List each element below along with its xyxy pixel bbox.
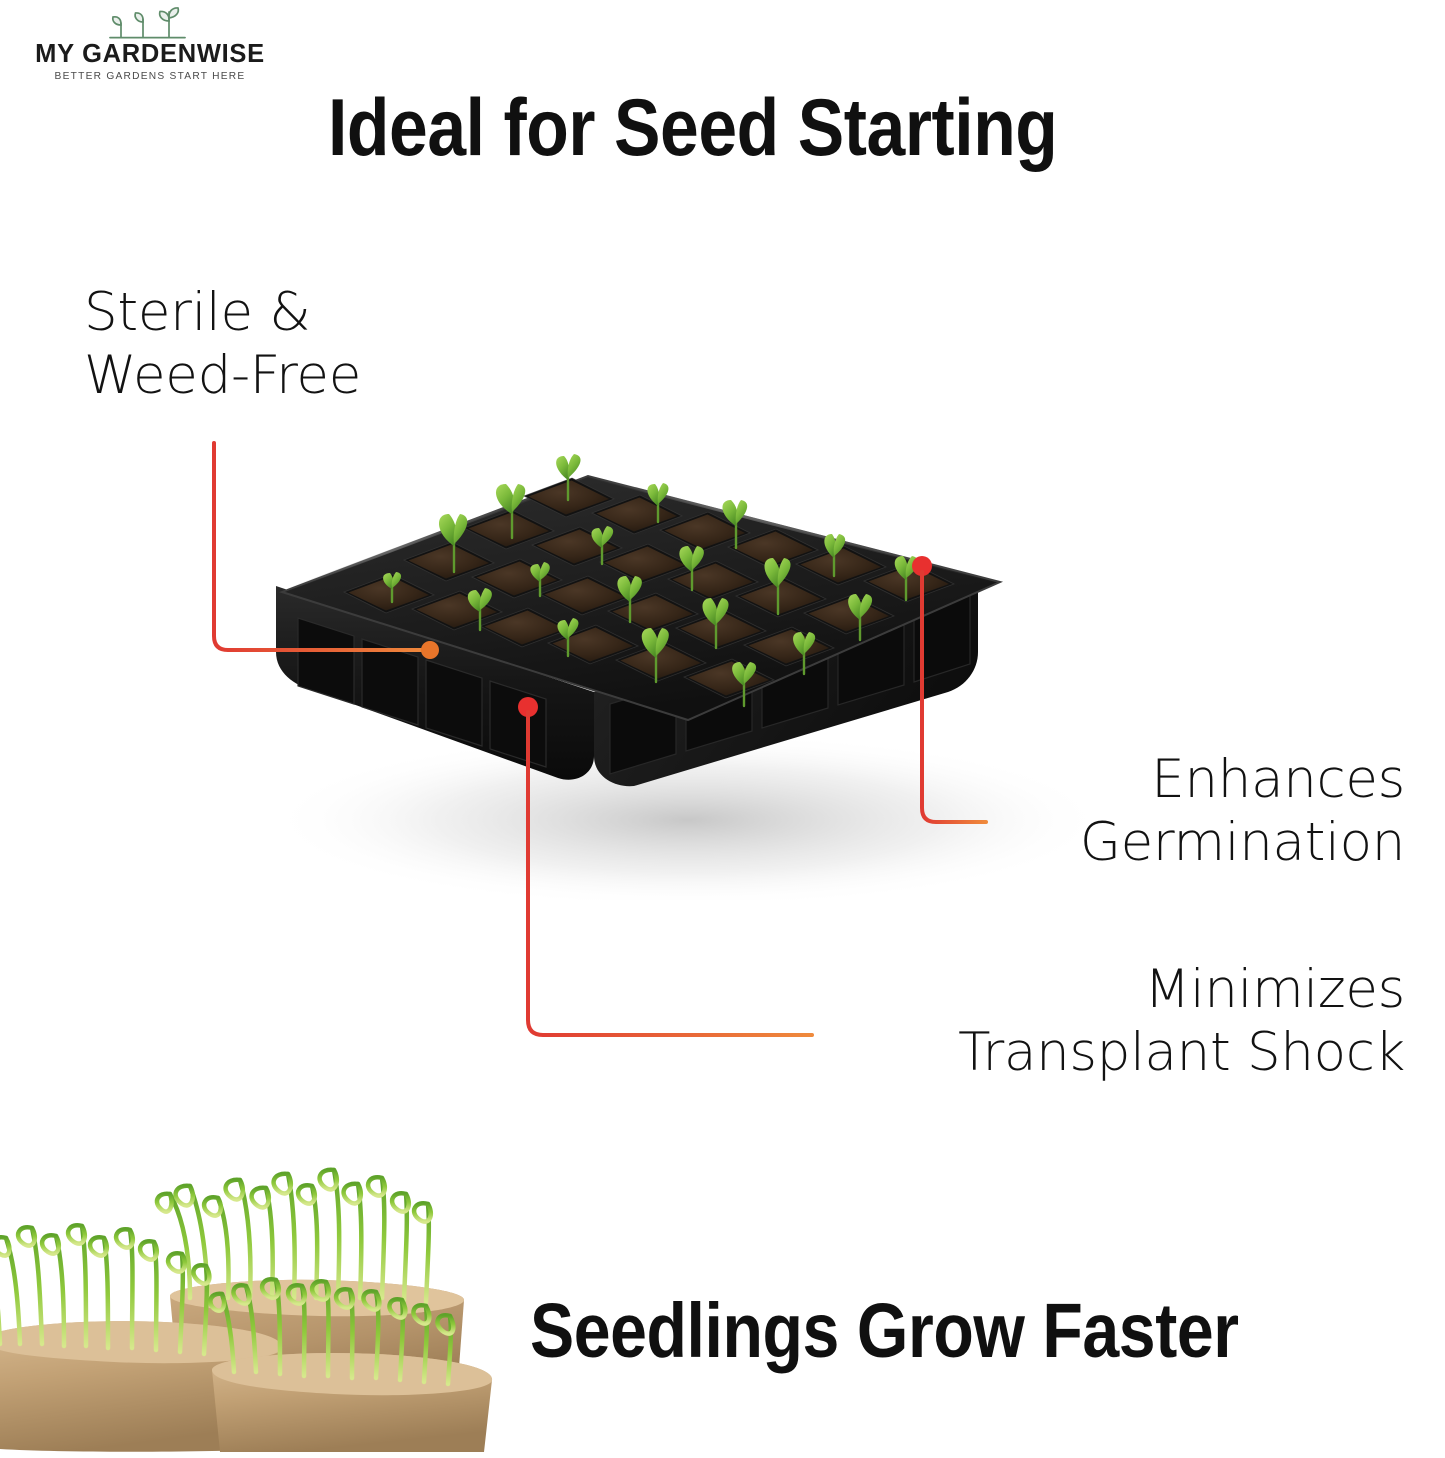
callout-shock-line1: Minimizes (958, 958, 1405, 1021)
callout-label-sterile: Sterile & Weed-Free (84, 281, 361, 407)
page-title-bottom: Seedlings Grow Faster (530, 1287, 1239, 1376)
callout-label-shock: Minimizes Transplant Shock (958, 958, 1405, 1084)
callout-label-germination: Enhances Germination (1080, 748, 1405, 874)
callout-dot-sterile (421, 641, 439, 659)
callout-germination-line1: Enhances (1080, 748, 1405, 811)
callout-sterile-line2: Weed-Free (84, 344, 361, 407)
callout-germination-line2: Germination (1080, 811, 1405, 874)
callout-sterile-line1: Sterile & (84, 281, 361, 344)
sprouts-in-pots-image (0, 1108, 539, 1453)
callout-shock-line2: Transplant Shock (958, 1021, 1405, 1084)
